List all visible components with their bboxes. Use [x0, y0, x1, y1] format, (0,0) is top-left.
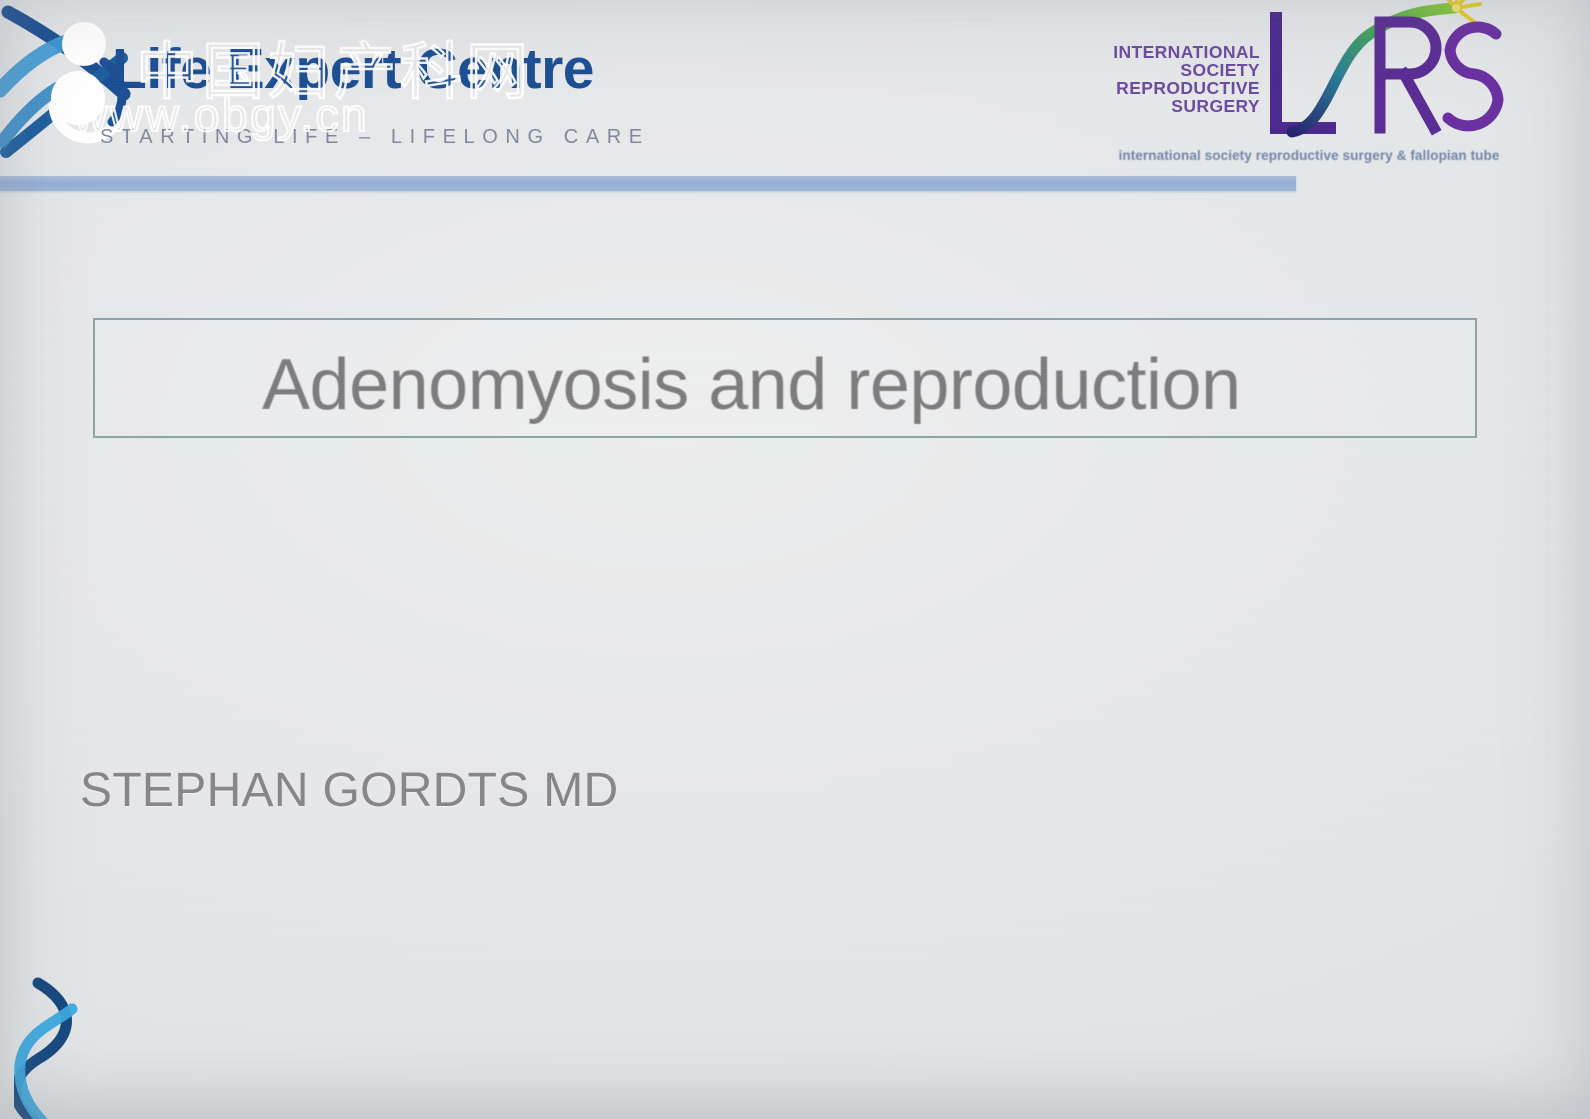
isrs-line-4: SURGERY: [1108, 98, 1260, 116]
presentation-slide: Life Expert Centre STARTING LIFE – LIFEL…: [0, 0, 1590, 1119]
isrs-line-3: REPRODUCTIVE: [1108, 80, 1260, 98]
isrs-subtitle: international society reproductive surge…: [1110, 148, 1508, 163]
logo-tagline: STARTING LIFE – LIFELONG CARE: [100, 126, 650, 149]
isrs-monogram-icon: [1258, 0, 1508, 148]
isrs-name-stack: INTERNATIONAL SOCIETY REPRODUCTIVE SURGE…: [1108, 44, 1260, 115]
isrs-logo: INTERNATIONAL SOCIETY REPRODUCTIVE SURGE…: [1108, 4, 1508, 170]
dna-helix-icon: [14, 975, 124, 1119]
slide-title: Adenomyosis and reproduction: [262, 344, 1241, 426]
header-divider: [0, 176, 1296, 191]
slide-header: Life Expert Centre STARTING LIFE – LIFEL…: [0, 0, 1590, 190]
author-name: STEPHAN GORDTS MD: [80, 763, 618, 818]
isrs-line-2: SOCIETY: [1108, 62, 1260, 80]
life-expert-centre-logo: Life Expert Centre STARTING LIFE – LIFEL…: [0, 0, 740, 172]
logo-wordmark: Life Expert Centre: [112, 36, 594, 102]
